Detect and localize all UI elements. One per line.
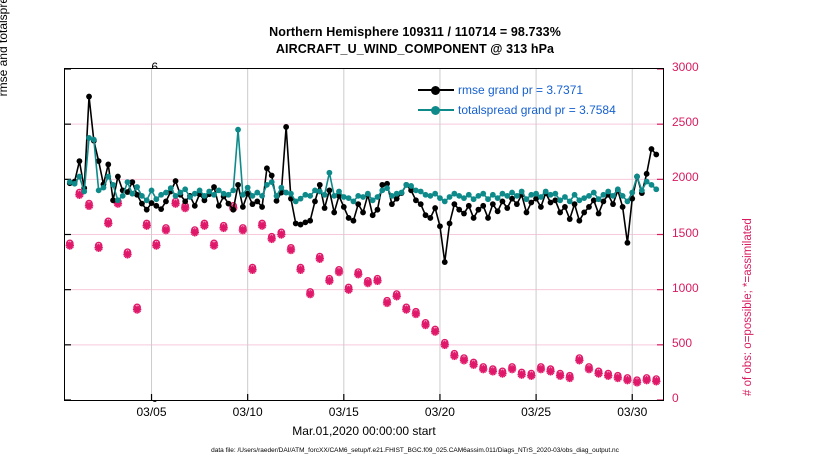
legend-swatch-rmse [418,84,454,96]
data-file-footer: data file: /Users/raeder/DAI/ATM_forcXX/… [0,447,830,454]
y-tick-right-500: 500 [672,336,722,350]
y-tick-right-2500: 2500 [672,115,722,129]
x-tick-03-25: 03/25 [506,405,566,419]
x-tick-03-30: 03/30 [602,405,662,419]
legend-item-totalspread: totalspread grand pr = 3.7584 [418,100,616,120]
title-line-1: Northern Hemisphere 109311 / 110714 = 98… [0,24,830,41]
y-tick-right-2000: 2000 [672,170,722,184]
x-axis-label: Mar.01,2020 00:00:00 start [0,424,728,438]
y-axis-right-label: # of obs: o=possible; *=assimilated [742,66,754,396]
legend-label-totalspread: totalspread grand pr = 3.7584 [458,100,616,120]
plot-title: Northern Hemisphere 109311 / 110714 = 98… [0,24,830,58]
legend-swatch-totalspread [418,104,454,116]
y-tick-right-3000: 3000 [672,60,722,74]
title-line-2: AIRCRAFT_U_WIND_COMPONENT @ 313 hPa [0,41,830,58]
y-tick-right-1500: 1500 [672,226,722,240]
x-tick-03-10: 03/10 [218,405,278,419]
x-tick-03-20: 03/20 [410,405,470,419]
plot-figure: Northern Hemisphere 109311 / 110714 = 98… [0,0,830,470]
legend-label-rmse: rmse grand pr = 3.7371 [458,80,583,100]
y-tick-right-0: 0 [672,391,722,405]
y-axis-left-label: rmse and totalspread [0,0,10,150]
y-tick-right-1000: 1000 [672,281,722,295]
x-tick-03-15: 03/15 [314,405,374,419]
legend-item-rmse: rmse grand pr = 3.7371 [418,80,616,100]
x-tick-03-05: 03/05 [122,405,182,419]
legend: rmse grand pr = 3.7371 totalspread grand… [418,80,616,120]
